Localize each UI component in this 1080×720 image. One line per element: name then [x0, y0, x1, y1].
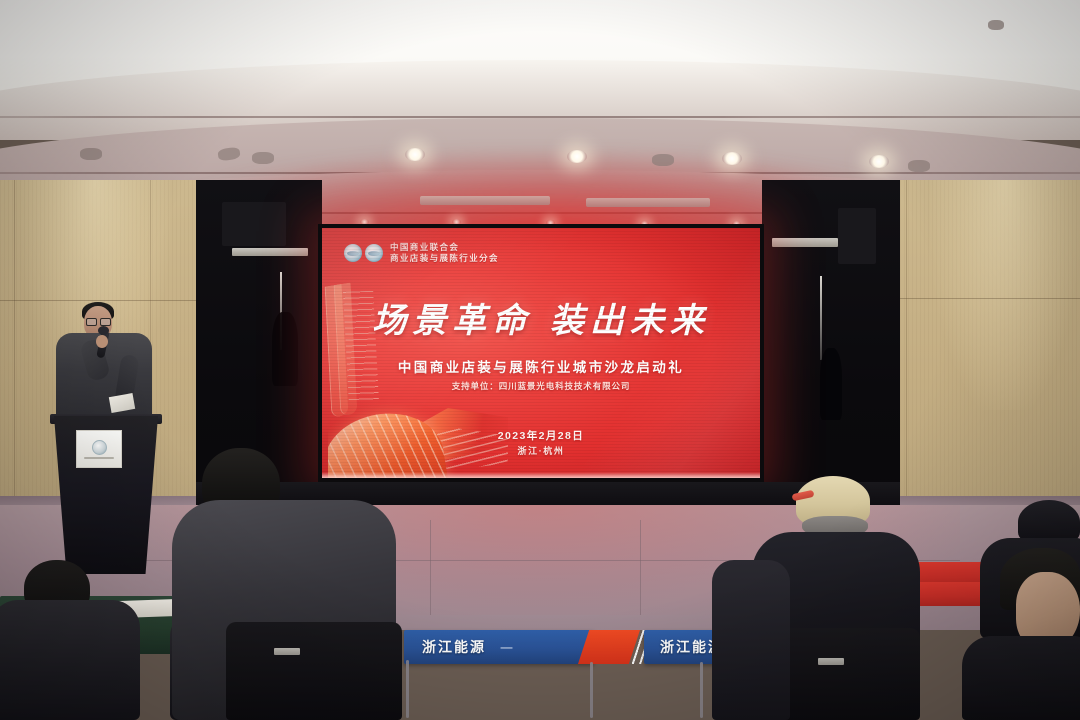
chair-banner-left: 浙江能源 一 [404, 630, 594, 664]
podium-plaque [76, 430, 122, 468]
backstage-door-edge [820, 276, 822, 360]
floor-seam [430, 520, 431, 615]
chair-banner-text: 浙江能源 [422, 637, 486, 657]
ceiling-speaker-icon [252, 152, 274, 164]
organization-header: 中国商业联合会 商业店装与展陈行业分会 [344, 242, 499, 263]
organization-logos [344, 244, 383, 262]
slide-location: 浙江·杭州 [322, 444, 760, 457]
ceiling-downlight [722, 152, 742, 165]
ceiling-speaker-icon [80, 148, 102, 160]
backstage-silhouette [272, 312, 298, 386]
ceiling-downlight [405, 148, 425, 161]
slide-date: 2023年2月28日 [322, 428, 760, 443]
wall-seam [900, 298, 1080, 299]
chair-banner-dash: 一 [500, 638, 513, 657]
chair-front-left[interactable] [226, 622, 402, 720]
led-screen[interactable]: 中国商业联合会 商业店装与展陈行业分会 场景革命 装出未来 中国商业店装与展陈行… [322, 228, 760, 478]
chair-tag [274, 648, 300, 655]
ceiling-vent [586, 198, 710, 207]
glasses-icon [86, 318, 110, 324]
ceiling-speaker-icon [652, 154, 674, 166]
backstage-silhouette [820, 348, 842, 420]
backstage-equipment [222, 202, 286, 246]
chair-tag [818, 658, 844, 665]
ceiling-downlight [567, 150, 587, 163]
book-graphic [325, 274, 410, 417]
organization-name-line2: 商业店装与展陈行业分会 [390, 253, 499, 263]
conference-hall-photo: 中国商业联合会 商业店装与展陈行业分会 场景革命 装出未来 中国商业店装与展陈行… [0, 0, 1080, 720]
slide-support-line: 支持单位：四川蓝景光电科技技术有限公司 [322, 380, 760, 392]
slide-main-title: 场景革命 装出未来 [322, 300, 760, 342]
wall-seam [0, 300, 196, 301]
chair-leg [590, 662, 593, 718]
backstage-equipment [838, 208, 876, 264]
ceiling-vent [420, 196, 550, 205]
ceiling-sprinkler-icon [988, 20, 1004, 30]
wall-light-wash [930, 180, 1080, 410]
institutional-emblem-icon [92, 440, 107, 455]
ceiling-downlight [869, 155, 889, 168]
backstage-light-strip [772, 238, 838, 247]
slide-subtitle: 中国商业店装与展陈行业城市沙龙启动礼 [322, 356, 760, 376]
globe-emblem-icon [344, 244, 362, 262]
ceiling-speaker-icon [908, 160, 930, 172]
plaque-text-line [84, 457, 114, 459]
chair-leg [700, 662, 703, 718]
organization-name-line1: 中国商业联合会 [390, 242, 499, 252]
globe-emblem-icon [365, 244, 383, 262]
backstage-light-strip [232, 248, 308, 256]
microphone-head [98, 326, 109, 335]
chair-leg [406, 660, 409, 718]
speaker-hand [96, 335, 108, 348]
floor-seam [640, 520, 641, 615]
screen-bottom-glow [322, 472, 760, 478]
